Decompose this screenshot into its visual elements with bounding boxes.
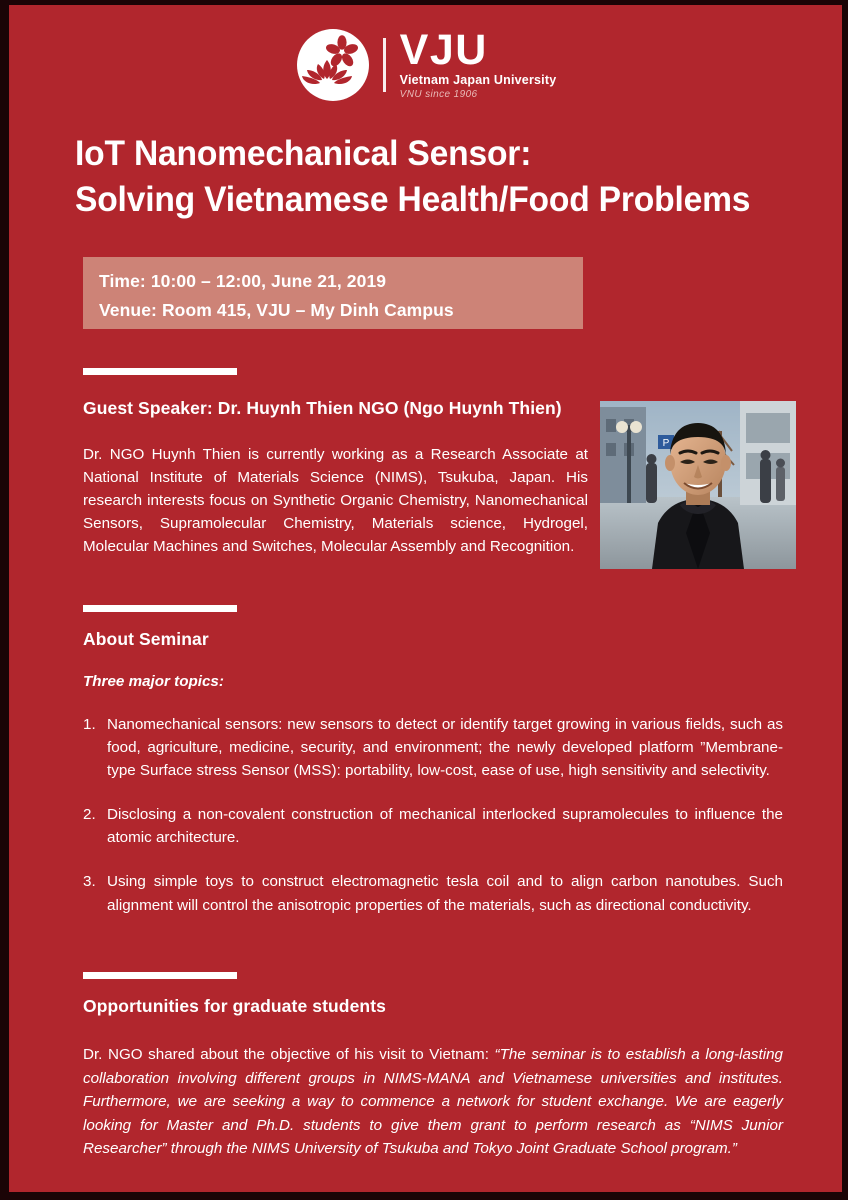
logo-divider bbox=[383, 38, 386, 92]
topic-number: 2. bbox=[83, 803, 107, 849]
seminar-poster: VJU Vietnam Japan University VNU since 1… bbox=[0, 0, 848, 1200]
poster-title: IoT Nanomechanical Sensor: Solving Vietn… bbox=[75, 131, 802, 223]
speaker-heading: Guest Speaker: Dr. Huynh Thien NGO (Ngo … bbox=[83, 398, 562, 419]
topic-text: Using simple toys to construct electroma… bbox=[107, 870, 783, 916]
vju-sakura-lotus-emblem-icon bbox=[295, 27, 371, 103]
logo-full-name: Vietnam Japan University bbox=[400, 74, 557, 87]
title-line-2: Solving Vietnamese Health/Food Problems bbox=[75, 177, 773, 223]
logo-tagline: VNU since 1906 bbox=[400, 90, 557, 100]
opportunities-text: Dr. NGO shared about the objective of hi… bbox=[83, 1043, 783, 1161]
topics-label: Three major topics: bbox=[83, 673, 224, 690]
title-line-1: IoT Nanomechanical Sensor: bbox=[75, 131, 773, 177]
topic-number: 3. bbox=[83, 870, 107, 916]
opportunities-lead-in: Dr. NGO shared about the objective of hi… bbox=[83, 1046, 495, 1063]
topic-number: 1. bbox=[83, 713, 107, 782]
section-rule-speaker bbox=[83, 368, 237, 375]
speaker-bio: Dr. NGO Huynh Thien is currently working… bbox=[83, 443, 588, 558]
topic-text: Nanomechanical sensors: new sensors to d… bbox=[107, 713, 783, 782]
topic-text: Disclosing a non-covalent construction o… bbox=[107, 803, 783, 849]
list-item: 2. Disclosing a non-covalent constructio… bbox=[83, 803, 783, 849]
list-item: 3. Using simple toys to construct electr… bbox=[83, 870, 783, 916]
speaker-photo: P bbox=[600, 401, 796, 569]
opportunities-heading: Opportunities for graduate students bbox=[83, 996, 386, 1017]
event-venue: Venue: Room 415, VJU – My Dinh Campus bbox=[99, 296, 583, 325]
svg-text:P: P bbox=[663, 438, 670, 449]
about-seminar-heading: About Seminar bbox=[83, 629, 209, 650]
topics-list: 1. Nanomechanical sensors: new sensors t… bbox=[83, 713, 783, 938]
event-time: Time: 10:00 – 12:00, June 21, 2019 bbox=[99, 267, 583, 296]
section-rule-opportunities bbox=[83, 972, 237, 979]
list-item: 1. Nanomechanical sensors: new sensors t… bbox=[83, 713, 783, 782]
section-rule-about bbox=[83, 605, 237, 612]
time-venue-box: Time: 10:00 – 12:00, June 21, 2019 Venue… bbox=[83, 257, 583, 329]
logo-acronym: VJU bbox=[400, 30, 557, 71]
vju-logo: VJU Vietnam Japan University VNU since 1… bbox=[9, 27, 842, 103]
